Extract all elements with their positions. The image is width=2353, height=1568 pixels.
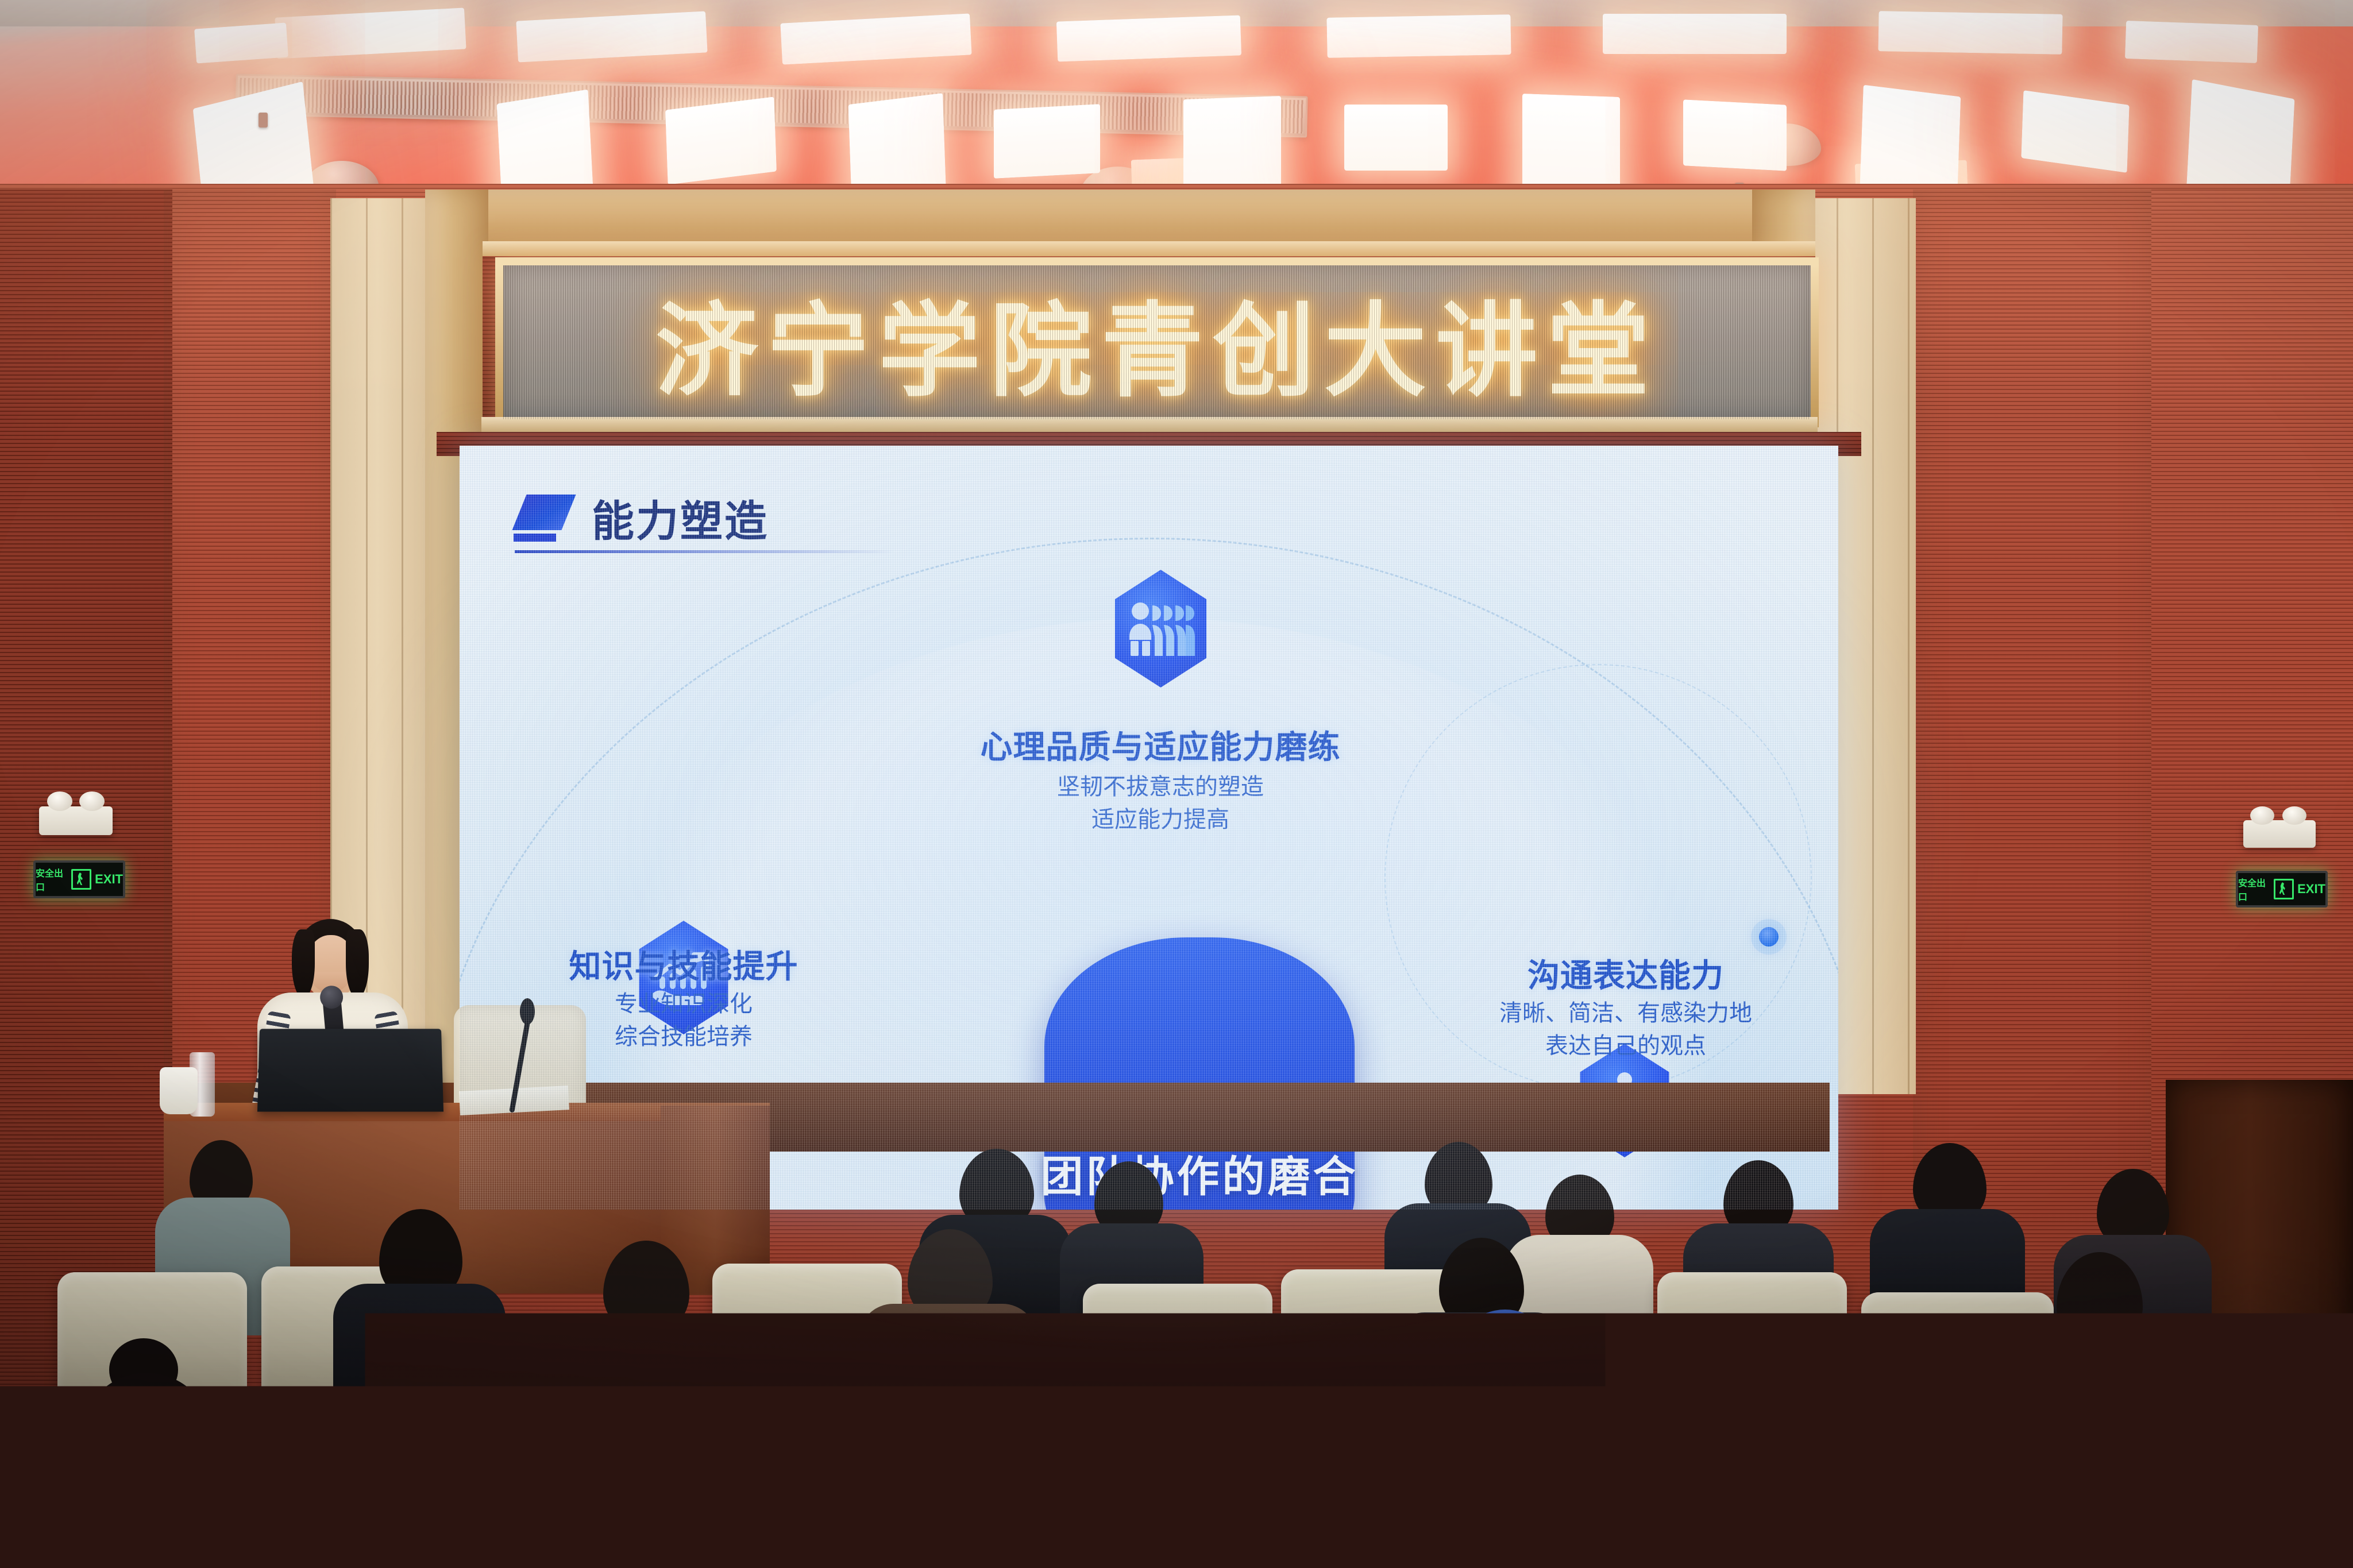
audience-body — [23, 1482, 264, 1568]
emergency-light-unit — [39, 806, 113, 835]
audience-body — [1137, 1453, 1425, 1568]
presenter-hair-side — [346, 929, 369, 998]
slide-title-row: 能力塑造 — [512, 487, 769, 549]
parallelogram-logo-icon — [512, 495, 574, 542]
slide-title-underline — [515, 550, 928, 553]
emergency-lamp-icon — [79, 791, 105, 811]
exit-sign-cn-label: 安全出口 — [2238, 875, 2270, 903]
ceiling-light-panel — [194, 22, 288, 63]
emergency-lamp-icon — [2282, 806, 2306, 825]
audience-body — [1586, 1488, 1850, 1568]
center-node-sub-line1: 坚韧不拔意志的塑造 — [896, 771, 1425, 804]
audience-body — [753, 1470, 1017, 1568]
ceiling-light-panel — [1683, 99, 1787, 171]
right-node-subtitle: 清晰、简洁、有感染力地 表达自己的观点 — [1413, 997, 1838, 1063]
exit-sign-left: 安全出口 EXIT — [33, 860, 125, 898]
shield-callout: 创新思维的点燃 团队协作的磨合 — [1044, 937, 1355, 1210]
center-node-sub-line2: 适应能力提高 — [896, 804, 1425, 836]
audience-body — [1913, 1511, 2177, 1568]
exit-sign-right: 安全出口 EXIT — [2236, 871, 2328, 907]
audience-body — [402, 1505, 655, 1568]
left-node-title: 知识与技能提升 — [494, 941, 873, 987]
ceiling-light-panel — [1603, 14, 1787, 54]
banner-bevel-bottom — [481, 417, 1818, 432]
crowd-people-icon — [1108, 570, 1214, 688]
slide-title: 能力塑造 — [592, 487, 769, 549]
audience-body — [2177, 1373, 2353, 1568]
emergency-lamp-icon — [47, 791, 72, 811]
exit-sign-en-label: EXIT — [2297, 882, 2325, 897]
emergency-lamp-icon — [2250, 806, 2274, 825]
right-node-sub-line2: 表达自己的观点 — [1413, 1030, 1838, 1063]
sprinkler-head-icon — [259, 113, 268, 128]
shield-line2: 团队协作的磨合 — [1041, 1142, 1359, 1204]
exit-sign-cn-label: 安全出口 — [36, 866, 68, 893]
gooseneck-microphone-head — [520, 998, 535, 1025]
auditorium-photo: 安全出口 EXIT 安全出口 EXIT 济宁学院青创大讲堂 — [0, 0, 2353, 1568]
presenter-hair-side — [292, 929, 315, 998]
emergency-light-unit — [2243, 820, 2316, 848]
ceiling-light-panel — [1056, 15, 1241, 61]
right-node-sub-line1: 清晰、简洁、有感染力地 — [1413, 997, 1838, 1030]
running-person-exit-icon — [71, 869, 92, 890]
ceiling-light-panel — [1326, 14, 1511, 58]
center-node-title: 心理品质与适应能力磨练 — [896, 721, 1425, 768]
led-banner: 济宁学院青创大讲堂 — [495, 257, 1819, 427]
center-node-subtitle: 坚韧不拔意志的塑造 适应能力提高 — [896, 771, 1425, 836]
right-node-title: 沟通表达能力 — [1436, 950, 1815, 997]
slide-dot-marker — [1759, 927, 1779, 947]
banner-title: 济宁学院青创大讲堂 — [503, 265, 1811, 419]
ceiling-light-panel — [994, 104, 1100, 179]
ceiling-light-panel — [665, 96, 777, 184]
ceiling-light-panel — [1878, 11, 2062, 55]
laptop[interactable] — [257, 1029, 443, 1111]
center-node — [1108, 570, 1838, 688]
exit-sign-en-label: EXIT — [95, 872, 123, 887]
ceiling-light-panel — [1344, 105, 1448, 171]
tea-cup — [160, 1067, 198, 1114]
banner-bevel-top — [483, 241, 1815, 256]
ceiling-light-panel — [2125, 21, 2258, 63]
running-person-exit-icon — [2274, 879, 2294, 899]
